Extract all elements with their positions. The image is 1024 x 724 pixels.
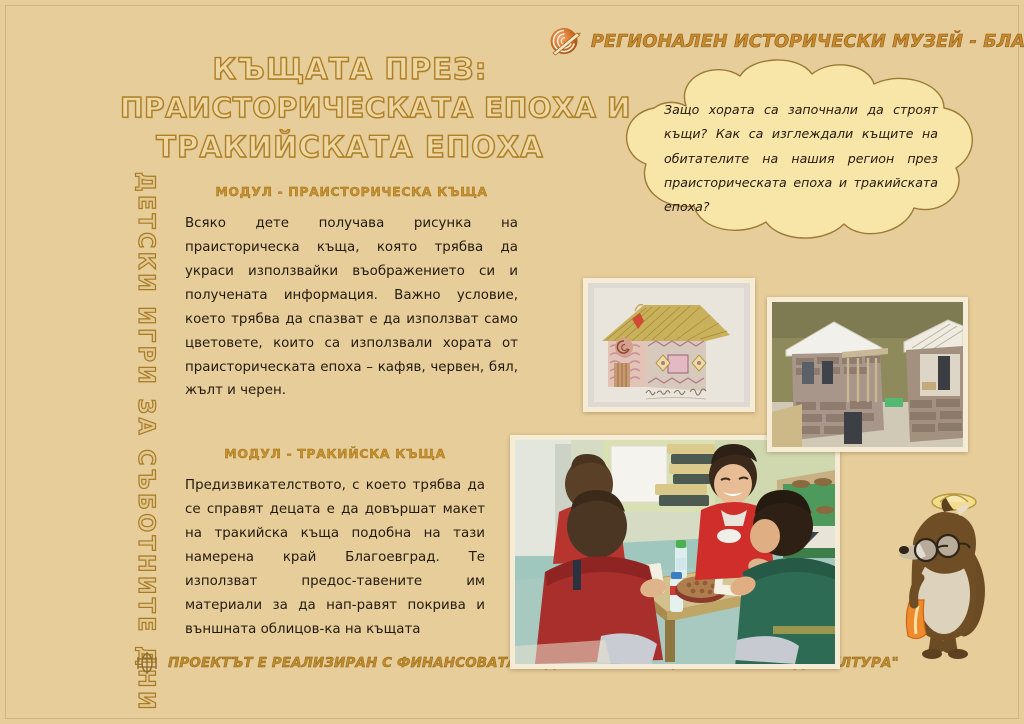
photo-stone-house-models xyxy=(767,297,968,452)
photo-child-drawing-prehistoric-house xyxy=(583,278,755,412)
mole-mascot-icon xyxy=(892,482,996,660)
question-cloud: Защо хората са започнали да строят къщи?… xyxy=(612,58,986,244)
museum-name: РЕГИОНАЛЕН ИСТОРИЧЕСКИ МУЗЕЙ - БЛАГОЕВГР… xyxy=(591,32,1024,52)
sidebar-vertical-title-text: ДЕТСКИ ИГРИ ЗА СЪБОТНИТЕ ДНИ xyxy=(134,172,156,713)
module-thracian-heading: МОДУЛ - ТРАКИЙСКА КЪЩА xyxy=(185,446,485,461)
question-text: Защо хората са започнали да строят къщи?… xyxy=(664,98,938,219)
page-title: КЪЩАТА ПРЕЗ: ПРАИСТОРИЧЕСКАТА ЕПОХА И ТР… xyxy=(120,50,580,167)
module-thracian-body: Предизвикателството, с което трябва да с… xyxy=(185,474,485,641)
sidebar-vertical-title: ДЕТСКИ ИГРИ ЗА СЪБОТНИТЕ ДНИ xyxy=(124,172,166,650)
title-line-1: КЪЩАТА ПРЕЗ: xyxy=(120,50,580,89)
module-prehistoric-body: Всяко дете получава рисунка на праистори… xyxy=(185,212,518,403)
photo-children-workshop-table xyxy=(510,435,840,669)
poster-canvas: РЕГИОНАЛЕН ИСТОРИЧЕСКИ МУЗЕЙ - БЛАГОЕВГР… xyxy=(0,0,1024,724)
module-prehistoric-heading: МОДУЛ - ПРАИСТОРИЧЕСКА КЪЩА xyxy=(185,184,518,199)
ornament-icon xyxy=(134,650,160,676)
module-prehistoric-house: МОДУЛ - ПРАИСТОРИЧЕСКА КЪЩА Всяко дете п… xyxy=(185,184,518,417)
module-thracian-house: МОДУЛ - ТРАКИЙСКА КЪЩА Предизвикателство… xyxy=(185,446,485,655)
title-line-3: ТРАКИЙСКАТА ЕПОХА xyxy=(120,128,580,167)
museum-header: РЕГИОНАЛЕН ИСТОРИЧЕСКИ МУЗЕЙ - БЛАГОЕВГР… xyxy=(548,26,1024,58)
title-line-2: ПРАИСТОРИЧЕСКАТА ЕПОХА И xyxy=(120,89,580,127)
